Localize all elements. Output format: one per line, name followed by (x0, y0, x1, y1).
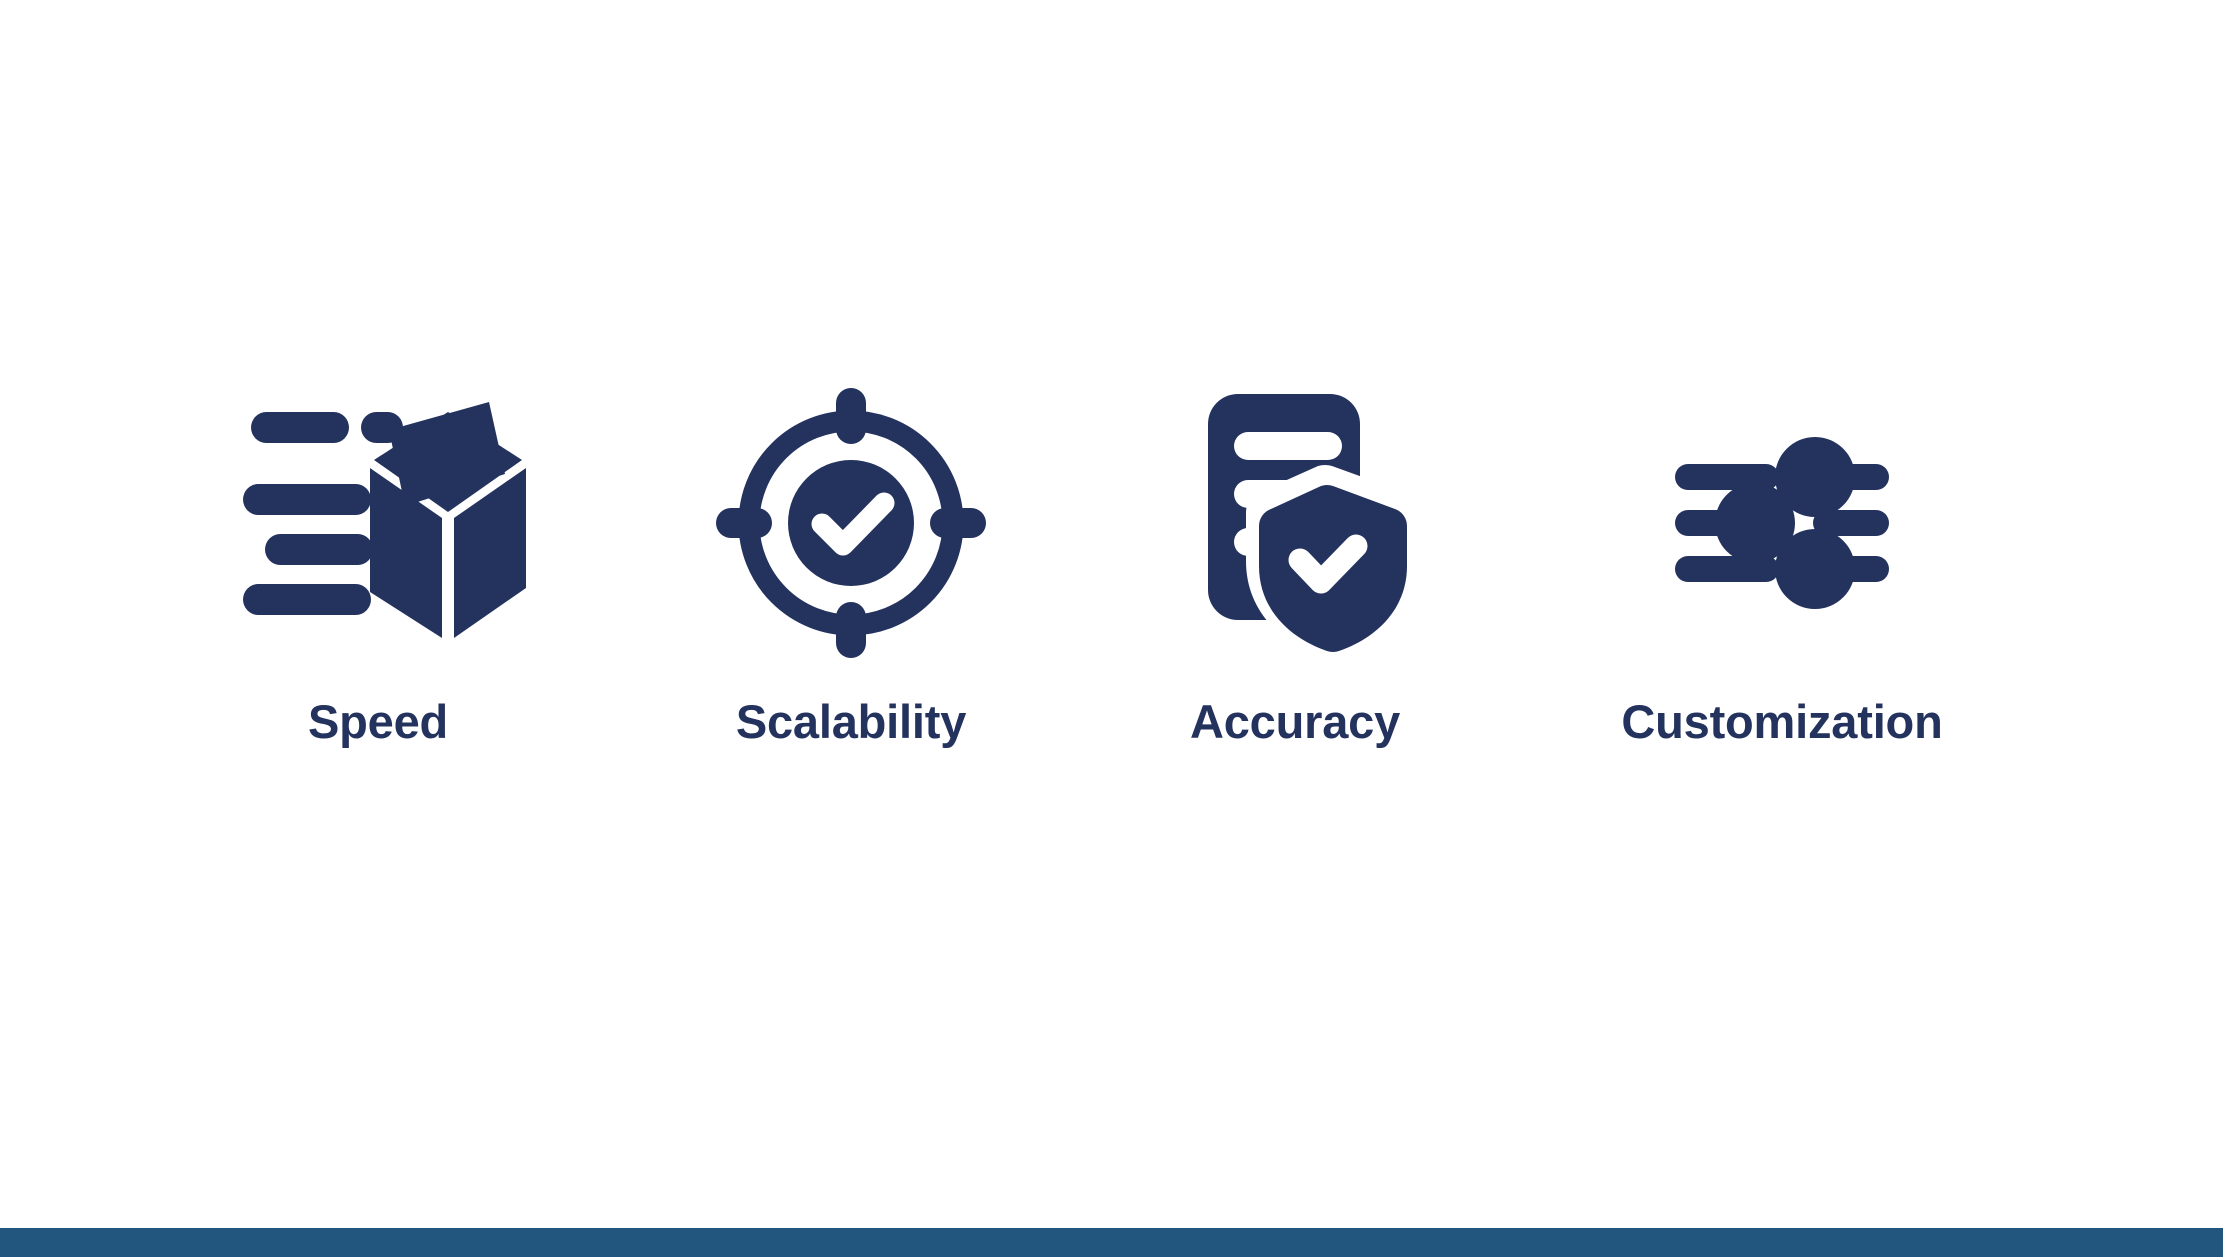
target-check-icon (716, 388, 986, 658)
speed-box-icon (243, 388, 513, 658)
slide-canvas: Speed (0, 0, 2223, 1257)
feature-label-customization: Customization (1547, 692, 2017, 752)
feature-item-speed[interactable]: Speed (143, 380, 613, 780)
document-shield-check-icon (1160, 388, 1430, 658)
feature-icon-row: Speed (0, 380, 2223, 780)
feature-label-scalability: Scalability (616, 692, 1086, 752)
feature-label-speed: Speed (143, 692, 613, 752)
feature-item-customization[interactable]: Customization (1547, 380, 2017, 780)
sliders-icon (1647, 388, 1917, 658)
feature-item-accuracy[interactable]: Accuracy (1060, 380, 1530, 780)
footer-accent-bar (0, 1228, 2223, 1257)
feature-item-scalability[interactable]: Scalability (616, 380, 1086, 780)
feature-label-accuracy: Accuracy (1060, 692, 1530, 752)
